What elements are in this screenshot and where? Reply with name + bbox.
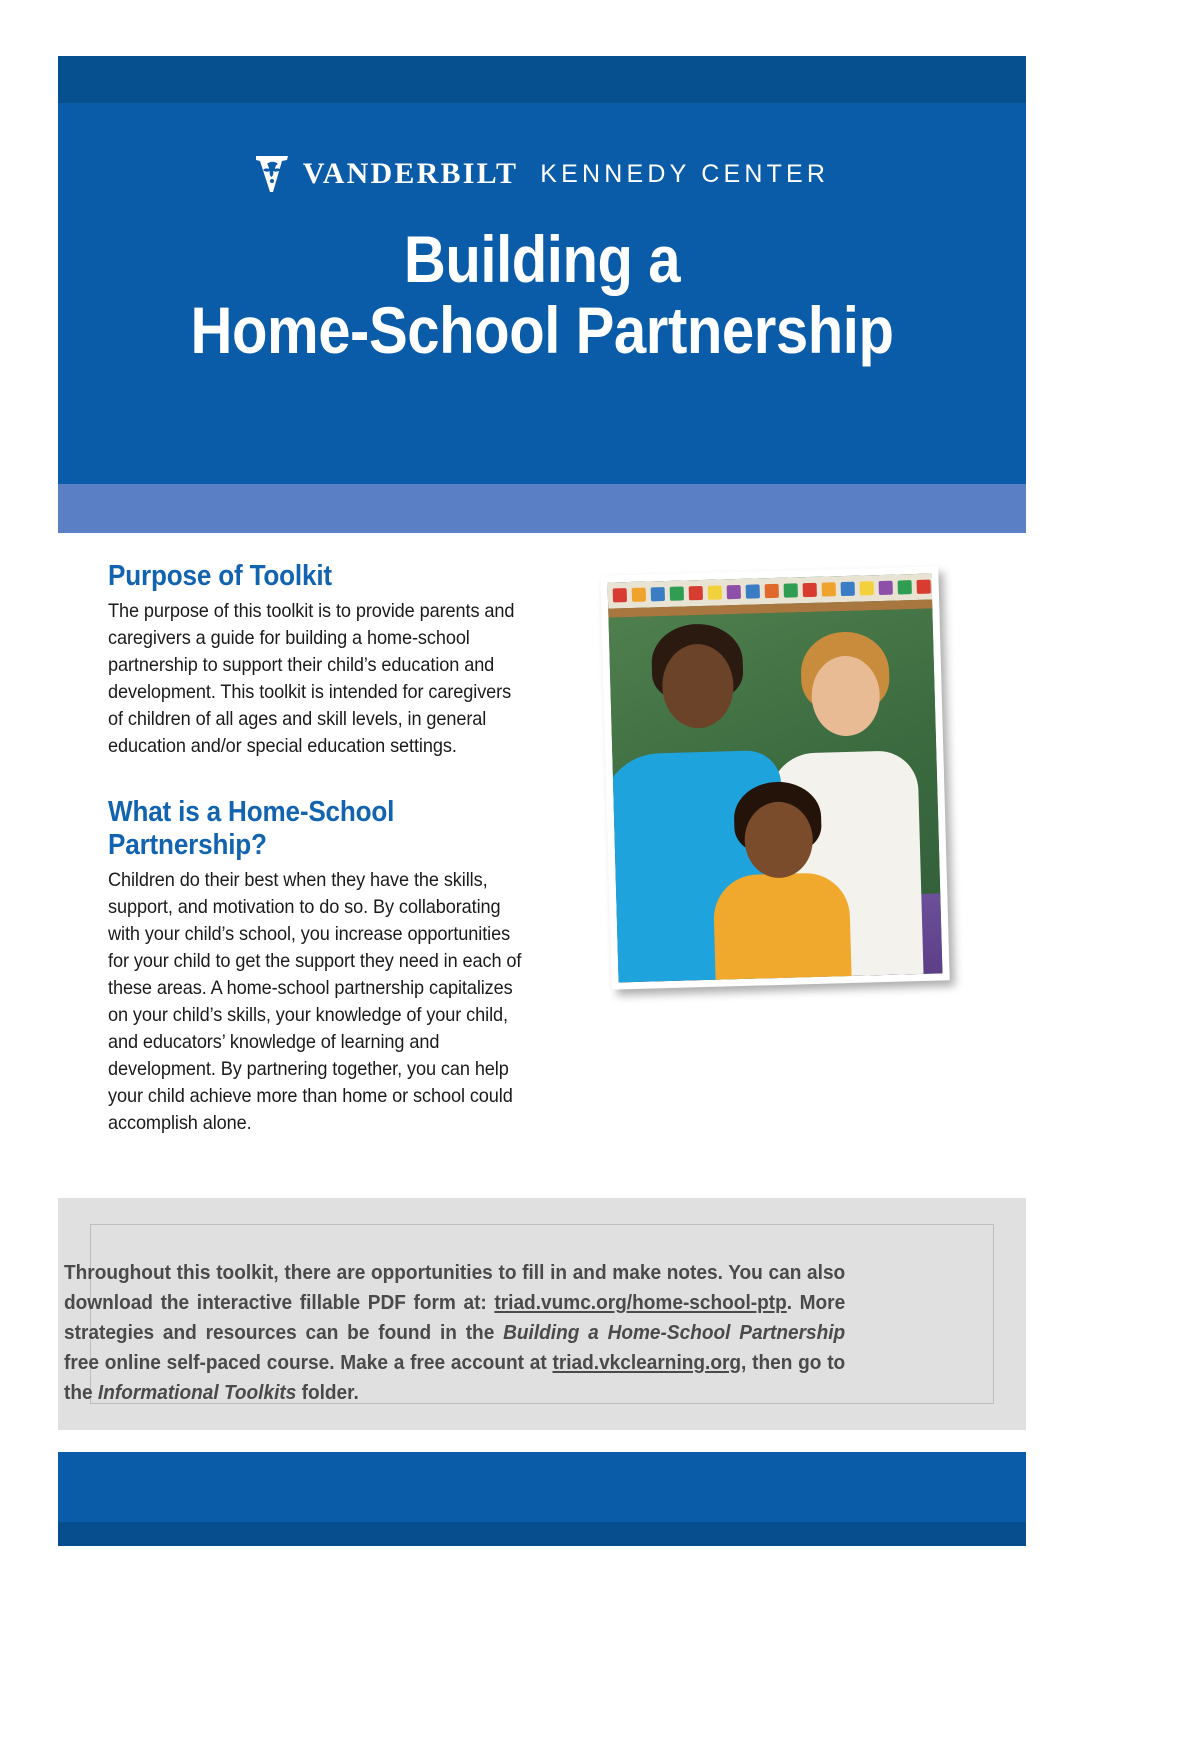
photo-frame xyxy=(600,566,949,989)
page-title-line-1: Building a xyxy=(116,224,968,295)
vanderbilt-v-oak-leaf-icon xyxy=(255,154,289,194)
vanderbilt-kennedy-center-logo: VANDERBILT KENNEDY CENTER xyxy=(58,154,1026,194)
parent-teacher-student-classroom-photo xyxy=(607,574,942,983)
footer-bar xyxy=(58,1452,1026,1522)
document-page: VANDERBILT KENNEDY CENTER Building a Hom… xyxy=(0,0,1200,1760)
section-spacer xyxy=(108,760,560,796)
section-body-what-is-partnership: Children do their best when they have th… xyxy=(108,867,528,1137)
page-title: Building a Home-School Partnership xyxy=(116,224,968,367)
callout-text-part-3: free online self-paced course. Make a fr… xyxy=(64,1351,552,1374)
main-content: Purpose of Toolkit The purpose of this t… xyxy=(0,560,1200,1180)
banner-top-stripe xyxy=(58,56,1026,103)
section-body-purpose: The purpose of this toolkit is to provid… xyxy=(108,598,528,760)
callout-course-title: Building a Home-School Partnership xyxy=(503,1321,845,1344)
banner-under-bar xyxy=(58,484,1026,533)
figure-child-body xyxy=(713,872,852,982)
logo-wordmark-kennedy-center: KENNEDY CENTER xyxy=(540,162,829,187)
callout-text-part-5: folder. xyxy=(296,1381,359,1404)
section-heading-purpose: Purpose of Toolkit xyxy=(108,560,515,592)
page-title-line-2: Home-School Partnership xyxy=(116,295,968,366)
callout-folder-name: Informational Toolkits xyxy=(98,1381,296,1404)
callout-text: Throughout this toolkit, there are oppor… xyxy=(64,1258,845,1408)
header-banner: VANDERBILT KENNEDY CENTER Building a Hom… xyxy=(58,56,1026,484)
link-vkclearning[interactable]: triad.vkclearning.org xyxy=(552,1351,741,1374)
logo-wordmark-vanderbilt: VANDERBILT xyxy=(303,159,518,189)
text-column: Purpose of Toolkit The purpose of this t… xyxy=(108,560,560,1137)
link-home-school-ptp[interactable]: triad.vumc.org/home-school-ptp xyxy=(494,1291,786,1314)
footer-bar-dark xyxy=(58,1522,1026,1546)
section-heading-what-is-partnership: What is a Home-School Partnership? xyxy=(108,796,515,861)
photo-container xyxy=(600,565,960,1005)
